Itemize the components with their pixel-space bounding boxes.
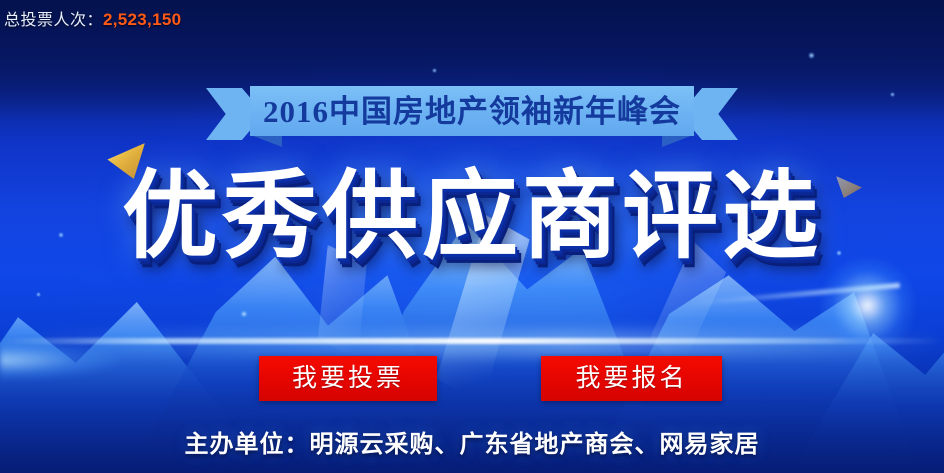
sparkle-dot (240, 310, 248, 318)
vote-button[interactable]: 我要投票 (259, 356, 437, 401)
sparkle-dot (890, 92, 895, 97)
vote-button-label: 我要投票 (292, 366, 404, 391)
campaign-banner: 总投票人次：2,523,150 2016中国房地产领袖新年峰会 优秀供应商评选 … (0, 0, 944, 473)
ribbon-band: 2016中国房地产领袖新年峰会 (250, 86, 694, 136)
vote-counter: 总投票人次：2,523,150 (4, 10, 181, 31)
event-subtitle: 2016中国房地产领袖新年峰会 (263, 96, 681, 127)
sparkle-dot (432, 68, 437, 73)
vote-counter-label: 总投票人次： (4, 12, 103, 29)
vote-counter-value: 2,523,150 (103, 10, 181, 29)
page-title: 优秀供应商评选 (0, 162, 944, 272)
left-edge-glow (0, 340, 120, 380)
signup-button-label: 我要报名 (575, 366, 687, 391)
organizers-text: 主办单位：明源云采购、广东省地产商会、网易家居 (0, 430, 944, 460)
sparkle-dot (808, 52, 815, 59)
horizon-light-streak (0, 338, 944, 344)
sparkle-dot (36, 292, 41, 297)
signup-button[interactable]: 我要报名 (541, 356, 722, 401)
ribbon-banner: 2016中国房地产领袖新年峰会 (206, 86, 738, 148)
lens-flare-icon (820, 258, 915, 353)
